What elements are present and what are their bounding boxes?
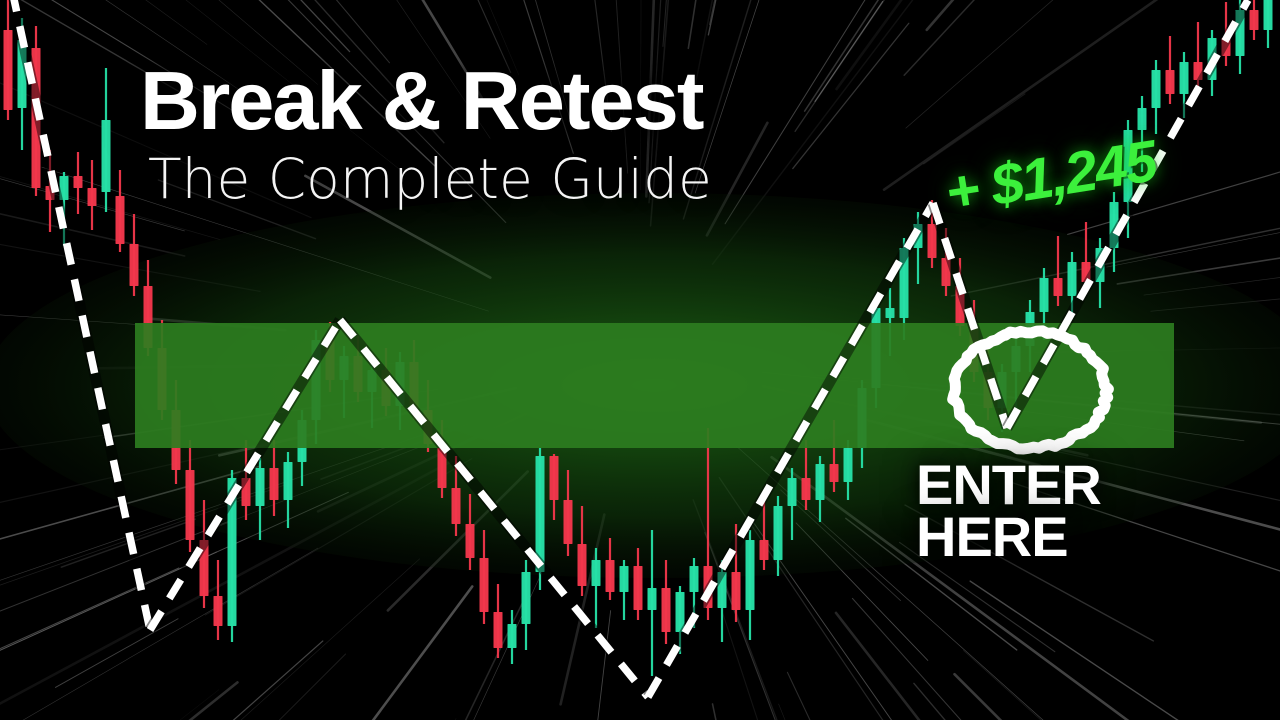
entry-callout-label: ENTER HERE bbox=[916, 459, 1101, 562]
annotation-layer bbox=[0, 0, 1280, 720]
thumbnail-canvas: Break & Retest The Complete Guide + $1,2… bbox=[0, 0, 1280, 720]
